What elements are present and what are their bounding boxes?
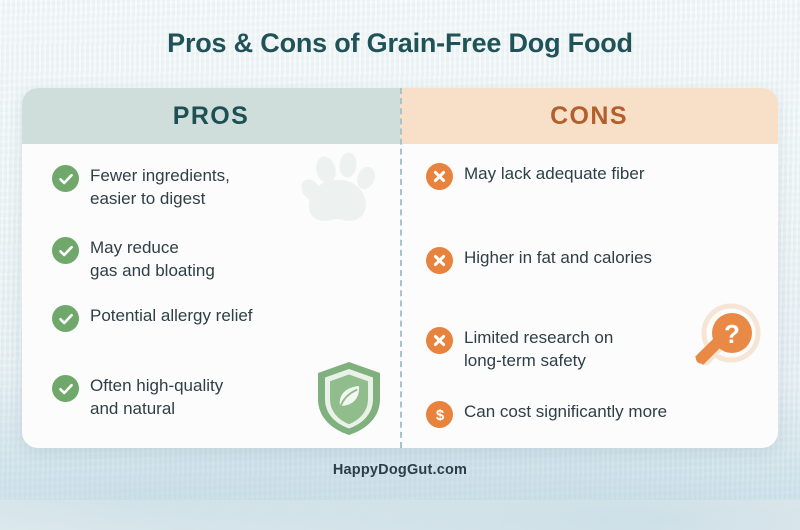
cons-list: May lack adequate fiber Higher in fat an… [400, 162, 778, 448]
list-item: Potential allergy relief [22, 304, 400, 352]
list-item-label: Often high-quality and natural [90, 374, 223, 420]
pros-column-header: PROS [22, 88, 400, 144]
cons-header-label: CONS [550, 102, 628, 131]
list-item: Higher in fat and calories [400, 246, 778, 294]
list-item: May reduce gas and bloating [22, 236, 400, 284]
x-circle-icon [426, 163, 453, 190]
column-divider [400, 88, 402, 448]
page-title: Pros & Cons of Grain-Free Dog Food [0, 28, 800, 59]
list-item: $ Can cost significantly more [400, 400, 778, 448]
site-footer: HappyDogGut.com [0, 462, 800, 478]
list-item-label: Can cost significantly more [464, 400, 667, 424]
svg-text:$: $ [435, 407, 444, 424]
pros-column: Fewer ingredients, easier to digest May … [22, 144, 400, 448]
pros-header-label: PROS [173, 102, 249, 131]
x-circle-icon [426, 327, 453, 354]
list-item-label: Limited research on long-term safety [464, 326, 613, 372]
list-item: Limited research on long-term safety [400, 326, 778, 374]
list-item: Often high-quality and natural [22, 374, 400, 422]
list-item: May lack adequate fiber [400, 162, 778, 210]
pros-list: Fewer ingredients, easier to digest May … [22, 164, 400, 422]
dollar-circle-icon: $ [426, 401, 453, 428]
cons-column-header: CONS [400, 88, 778, 144]
cons-column: ? May lack adequate fiber Higher in fat … [400, 144, 778, 448]
list-item-label: Higher in fat and calories [464, 246, 652, 270]
list-item: Fewer ingredients, easier to digest [22, 164, 400, 212]
check-circle-icon [52, 375, 79, 402]
list-item-label: May lack adequate fiber [464, 162, 645, 186]
x-circle-icon [426, 247, 453, 274]
list-item-label: Fewer ingredients, easier to digest [90, 164, 230, 210]
check-circle-icon [52, 305, 79, 332]
check-circle-icon [52, 165, 79, 192]
pros-cons-card: PROS CONS [22, 88, 778, 448]
check-circle-icon [52, 237, 79, 264]
list-item-label: Potential allergy relief [90, 304, 253, 328]
list-item-label: May reduce gas and bloating [90, 236, 215, 282]
